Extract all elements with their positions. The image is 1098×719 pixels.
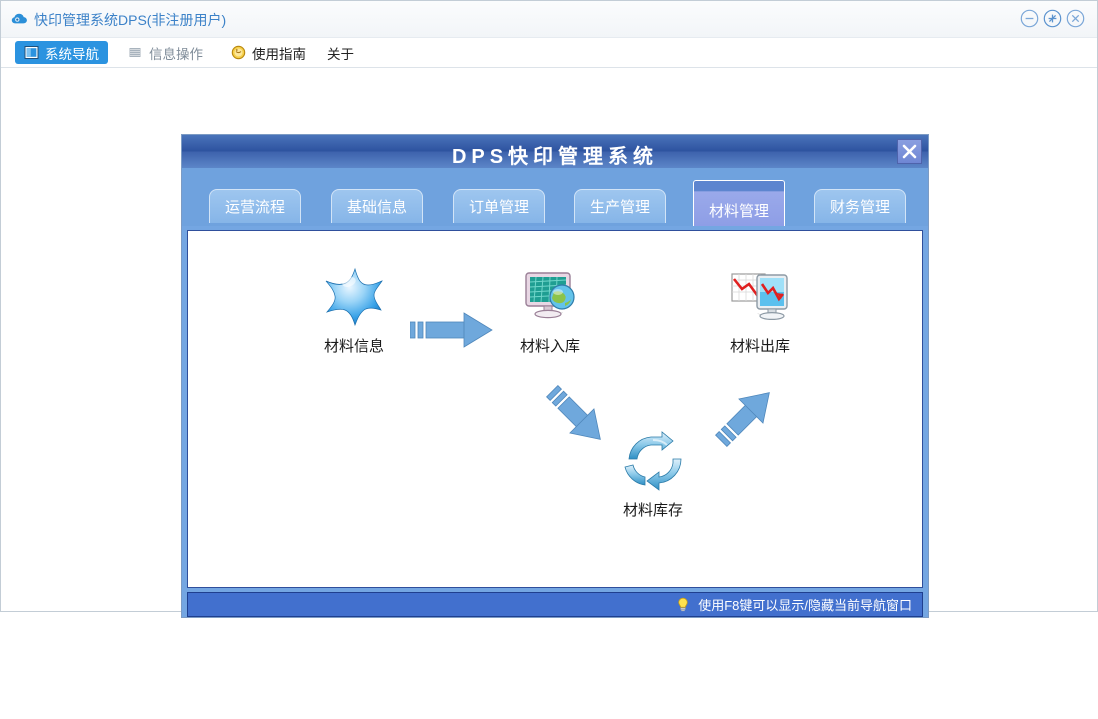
flow-node-material-inbound[interactable]: 材料入库	[490, 265, 610, 356]
statusbar-text: 使用F8键可以显示/隐藏当前导航窗口	[698, 595, 912, 614]
arrow-right-icon	[410, 309, 496, 351]
menu-item-info-operation[interactable]: 信息操作	[119, 41, 212, 64]
dialog-close-button[interactable]	[897, 139, 922, 164]
application-window: 快印管理系统DPS(非注册用户) 系统导航	[0, 0, 1098, 612]
tab-label: 生产管理	[590, 196, 650, 217]
menu-item-label: 使用指南	[252, 43, 306, 63]
flow-node-material-outbound[interactable]: 材料出库	[700, 265, 820, 356]
menu-item-label: 信息操作	[149, 43, 203, 63]
menu-item-about[interactable]: 关于	[318, 41, 363, 64]
tab-material-management[interactable]: 材料管理	[693, 180, 785, 226]
menu-item-system-navigation[interactable]: 系统导航	[15, 41, 108, 64]
window-icon	[24, 45, 39, 60]
dialog-tabstrip: 运营流程 基础信息 订单管理 生产管理 材料管理 财务管理	[182, 168, 928, 226]
tab-label: 材料管理	[709, 200, 769, 221]
navigation-dialog: DPS快印管理系统 运营流程 基础信息 订单管理 生产管理 材料管理 财务管理	[182, 135, 928, 617]
tab-label: 订单管理	[469, 196, 529, 217]
chart-monitor-icon	[728, 265, 792, 329]
window-titlebar: 快印管理系统DPS(非注册用户)	[1, 1, 1097, 38]
dialog-titlebar: DPS快印管理系统	[182, 135, 928, 168]
tab-finance-management[interactable]: 财务管理	[814, 189, 906, 223]
flow-node-label: 材料库存	[593, 499, 713, 520]
minimize-icon[interactable]	[1020, 9, 1039, 28]
close-x-icon	[900, 142, 919, 161]
recycle-icon	[621, 429, 685, 493]
tab-label: 基础信息	[347, 196, 407, 217]
cloud-icon	[11, 11, 28, 28]
close-icon[interactable]	[1066, 9, 1085, 28]
tab-label: 运营流程	[225, 196, 285, 217]
arrow-down-right-icon	[538, 377, 616, 455]
menu-item-user-guide[interactable]: 使用指南	[222, 41, 315, 64]
grid-icon	[128, 45, 143, 60]
arrow-up-right-icon	[707, 377, 785, 455]
flow-node-material-info[interactable]: 材料信息	[294, 265, 414, 356]
monitor-globe-icon	[518, 265, 582, 329]
dialog-statusbar: 使用F8键可以显示/隐藏当前导航窗口	[187, 592, 923, 617]
window-title: 快印管理系统DPS(非注册用户)	[34, 10, 226, 30]
flow-node-label: 材料信息	[294, 335, 414, 356]
tab-production-management[interactable]: 生产管理	[574, 189, 666, 223]
flow-node-label: 材料入库	[490, 335, 610, 356]
maximize-icon[interactable]	[1043, 9, 1062, 28]
lightbulb-icon	[676, 597, 690, 612]
star-icon	[322, 265, 386, 329]
dialog-title: DPS快印管理系统	[182, 140, 928, 169]
menubar: 系统导航 信息操作	[1, 38, 1097, 68]
menu-item-label: 关于	[327, 43, 354, 63]
tab-operation-flow[interactable]: 运营流程	[209, 189, 301, 223]
flow-diagram-canvas: 材料信息	[187, 230, 923, 588]
tab-label: 财务管理	[830, 196, 890, 217]
tab-basic-info[interactable]: 基础信息	[331, 189, 423, 223]
tab-order-management[interactable]: 订单管理	[453, 189, 545, 223]
menu-item-label: 系统导航	[45, 43, 99, 63]
coin-icon	[231, 45, 246, 60]
flow-node-label: 材料出库	[700, 335, 820, 356]
